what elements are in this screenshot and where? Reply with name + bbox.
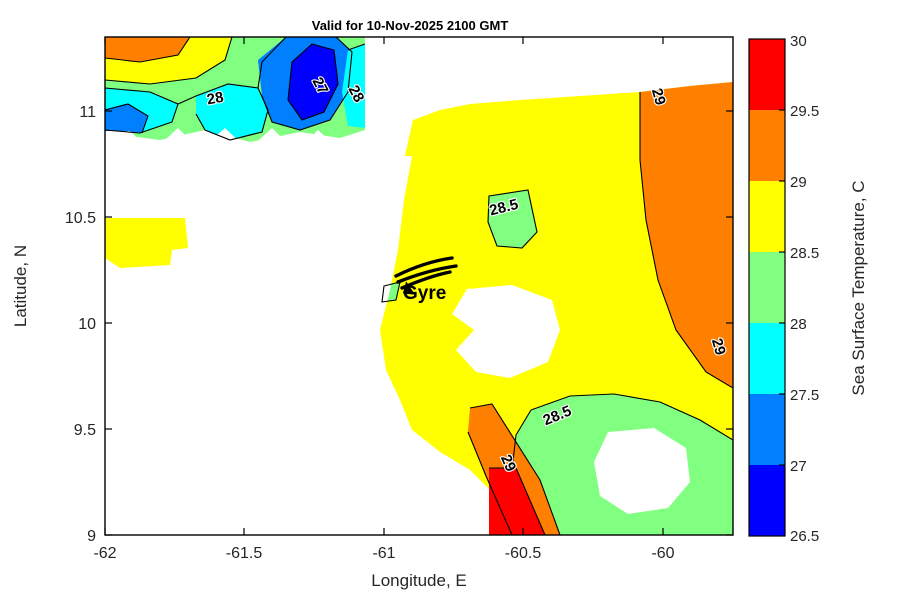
- cb-band-29.5-30: [749, 39, 785, 110]
- land-west-main: [105, 156, 412, 535]
- cb-tick-2: 27.5: [790, 387, 819, 404]
- map-plot-area: 28 27 28 28.5 29 29 28.5 29 Gyre: [11, 37, 733, 590]
- x-tick-3: -60.5: [505, 545, 542, 562]
- cb-tick-3: 28: [790, 316, 807, 333]
- x-tick-0: -62: [93, 545, 116, 562]
- cb-tick-5: 29: [790, 174, 807, 191]
- y-tick-4: 11: [79, 104, 96, 121]
- y-tick-2: 10: [78, 316, 96, 333]
- cb-tick-6: 29.5: [790, 103, 819, 120]
- cb-band-26.5-27: [749, 465, 785, 536]
- y-tick-1: 9.5: [74, 422, 96, 439]
- x-tick-4: -60: [651, 545, 674, 562]
- x-tick-2: -61: [372, 545, 395, 562]
- y-tick-0: 9: [87, 528, 96, 545]
- x-tick-1: -61.5: [226, 545, 263, 562]
- y-axis-title: Latitude, N: [11, 245, 30, 327]
- cb-tick-1: 27: [790, 458, 807, 475]
- gyre-label: Gyre: [403, 283, 446, 304]
- cb-band-29-29.5: [749, 110, 785, 181]
- colorbar-title: Sea Surface Temperature, C: [849, 180, 868, 395]
- cb-tick-7: 30: [790, 33, 807, 50]
- cb-band-27.5-28: [749, 323, 785, 394]
- sst-contour-figure: Valid for 10-Nov-2025 2100 GMT: [0, 0, 900, 600]
- y-tick-3: 10.5: [65, 210, 96, 227]
- cb-band-28-28.5: [749, 252, 785, 323]
- contour-label-28-nw: 28: [206, 89, 225, 109]
- figure-canvas: Valid for 10-Nov-2025 2100 GMT: [0, 0, 900, 600]
- cb-tick-0: 26.5: [790, 528, 819, 545]
- x-axis-title: Longitude, E: [371, 571, 466, 590]
- cb-band-28.5-29: [749, 181, 785, 252]
- cb-tick-4: 28.5: [790, 245, 819, 262]
- figure-title: Valid for 10-Nov-2025 2100 GMT: [312, 18, 509, 33]
- cb-band-27-27.5: [749, 394, 785, 465]
